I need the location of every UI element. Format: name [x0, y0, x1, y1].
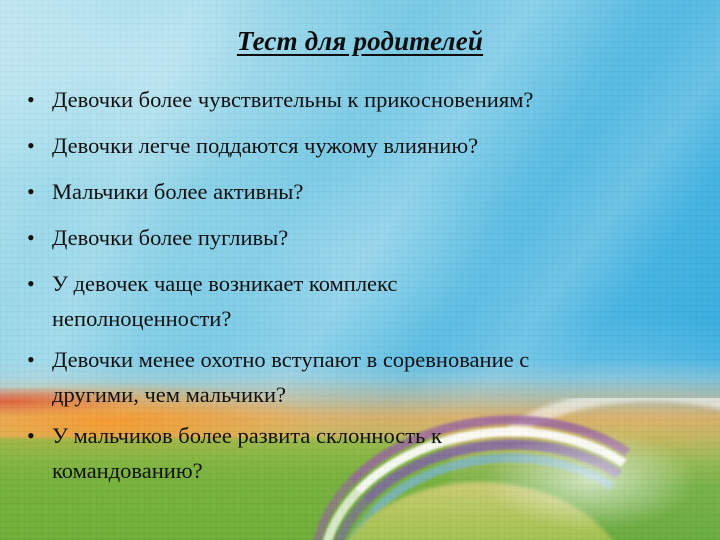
list-item: Мальчики более активны?	[22, 174, 712, 209]
list-item: Девочки более пугливы?	[22, 220, 712, 255]
slide-title: Тест для родителей	[0, 26, 720, 57]
list-item: Девочки легче поддаются чужому влиянию?	[22, 128, 712, 163]
slide-content: Тест для родителей Девочки более чувстви…	[0, 0, 720, 540]
slide-title-text: Тест для родителей	[237, 26, 483, 56]
list-item: Девочки менее охотно вступают в соревнов…	[22, 342, 712, 412]
list-item: Девочки более чувствительны к прикоснове…	[22, 82, 712, 117]
list-item: У девочек чаще возникает комплекс неполн…	[22, 266, 712, 336]
list-item: У мальчиков более развита склонность к к…	[22, 418, 712, 488]
presentation-slide: Тест для родителей Девочки более чувстви…	[0, 0, 720, 540]
question-list: Девочки более чувствительны к прикоснове…	[22, 82, 712, 494]
